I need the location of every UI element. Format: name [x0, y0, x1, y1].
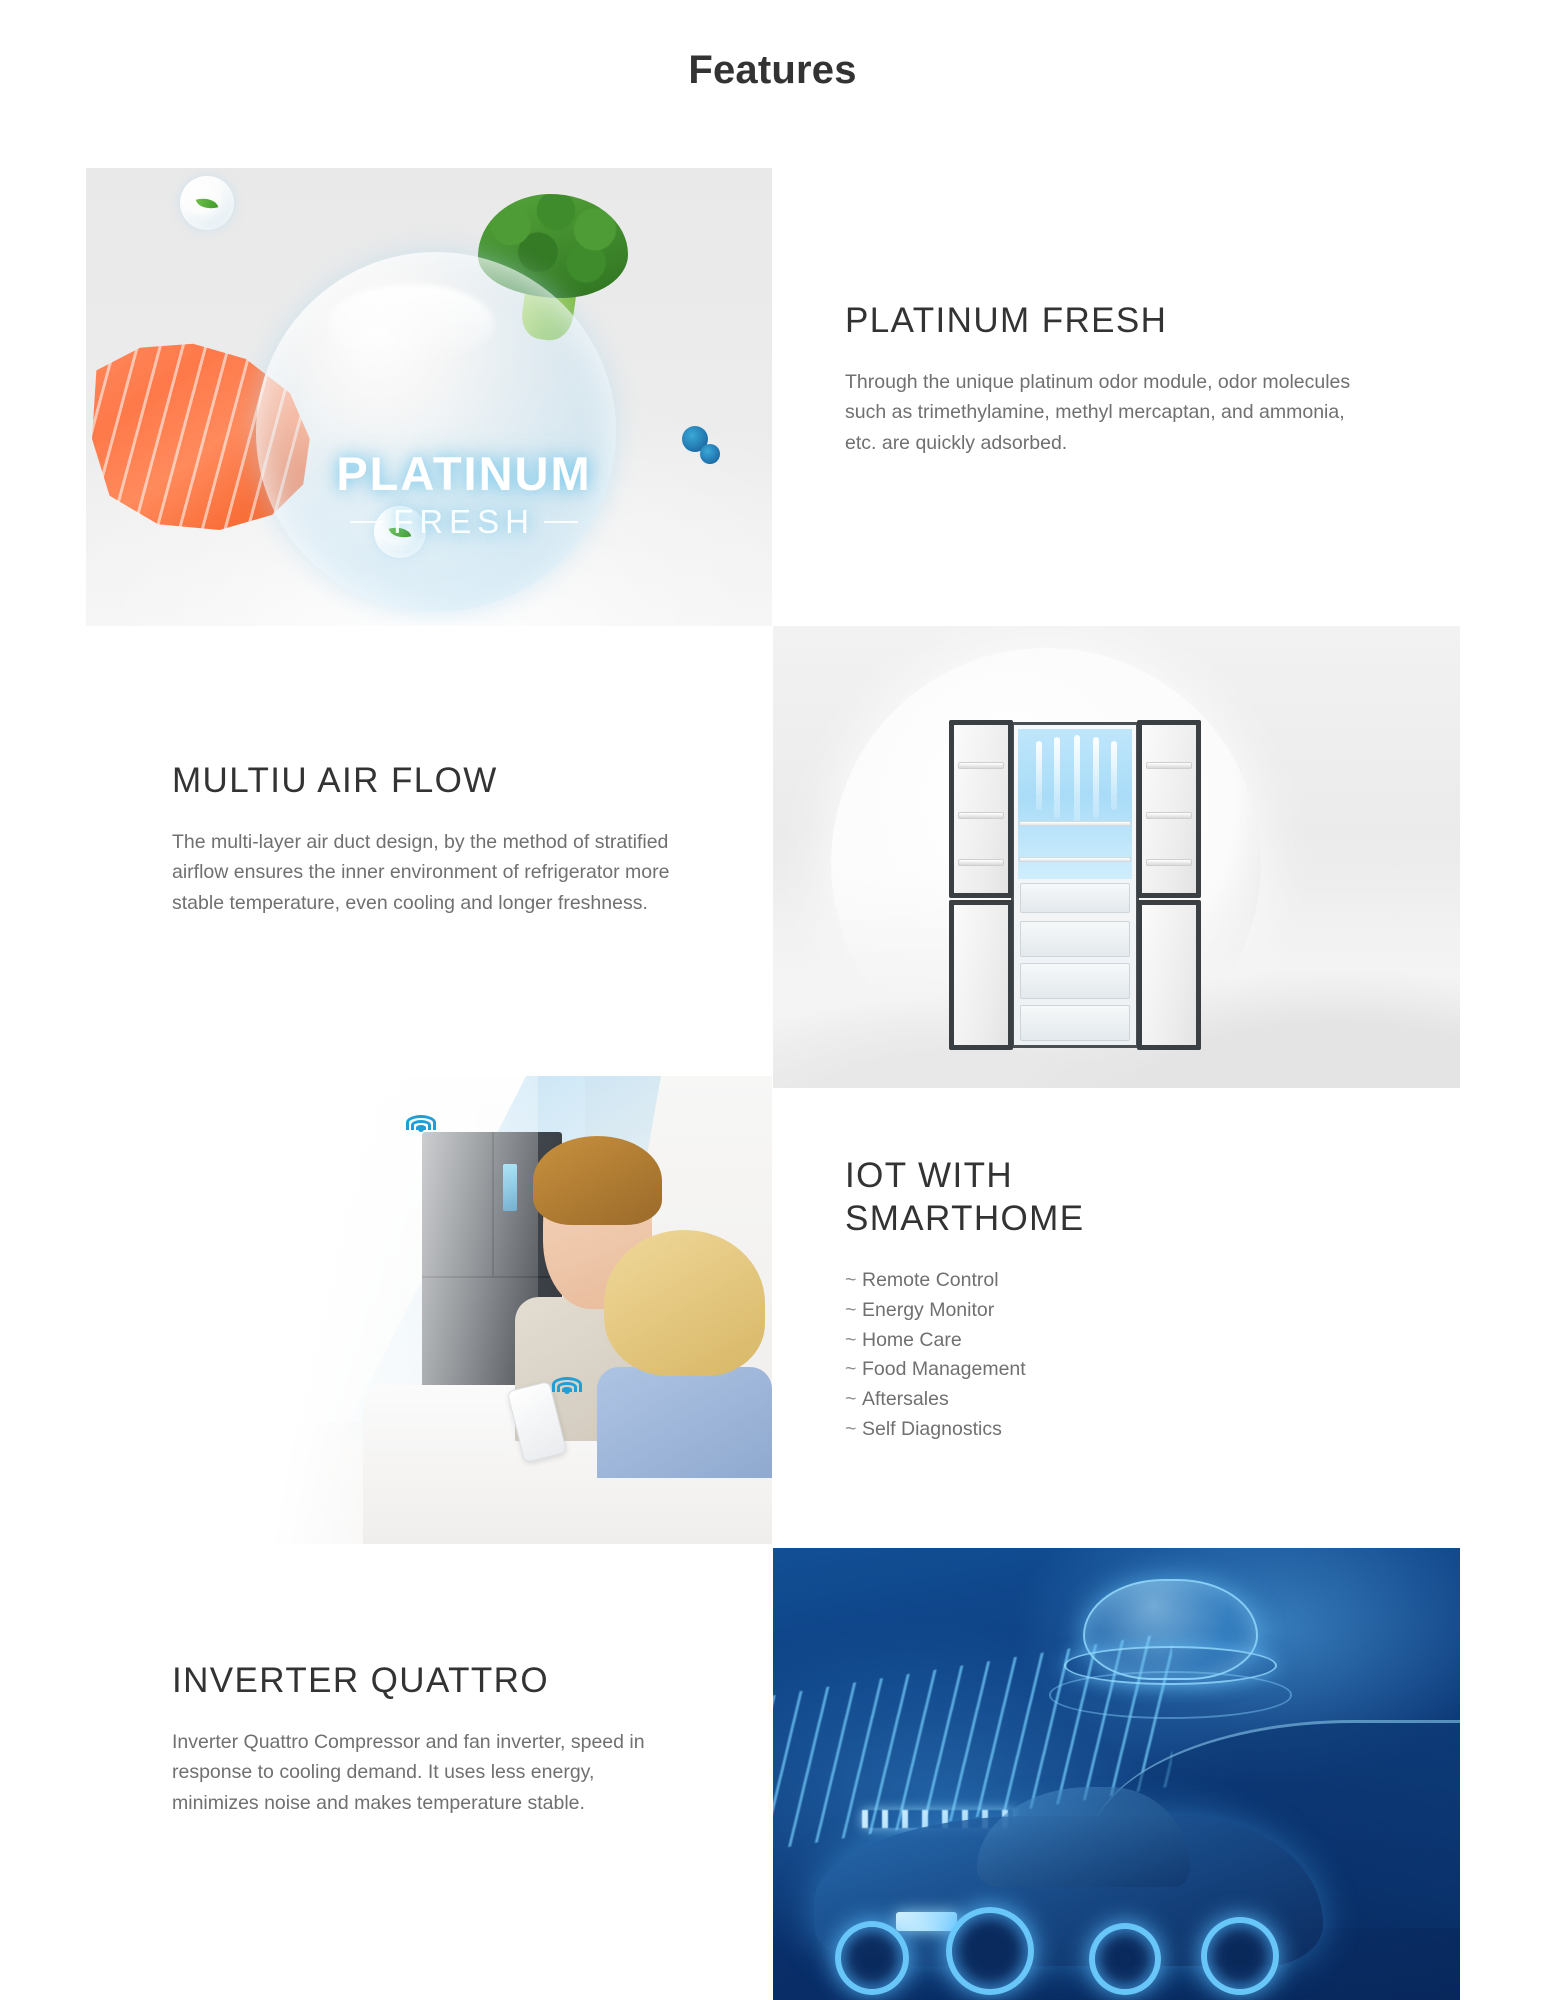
- glass-shelf: [1019, 821, 1131, 826]
- wifi-dot: [564, 1388, 570, 1394]
- list-item-label: Food Management: [862, 1358, 1026, 1380]
- airflow-stream: [1074, 735, 1080, 822]
- open-refrigerator-airflow-image: [773, 626, 1460, 1088]
- car-wheel: [835, 1921, 909, 1995]
- wordmark-line-2: FRESH: [314, 503, 614, 541]
- door-bottom-right: [1137, 900, 1201, 1050]
- crisper-drawer: [1020, 883, 1130, 913]
- door-top-right: [1137, 720, 1201, 898]
- platinum-fresh-image: PLATINUM FRESH Antibacterial rate >99.99…: [86, 168, 772, 626]
- multiu-air-flow-text: MULTIU AIR FLOW The multi-layer air duct…: [172, 760, 712, 919]
- feature-heading-inverter-quattro: INVERTER QUATTRO: [172, 1660, 712, 1703]
- airflow-stream: [1054, 737, 1060, 818]
- leaf-icon: [196, 194, 219, 212]
- leaf-bubble-top: [180, 176, 234, 230]
- door-top-left: [949, 720, 1013, 898]
- freezer-drawer: [1020, 921, 1130, 957]
- list-bullet: ~: [845, 1385, 862, 1415]
- list-item-label: Energy Monitor: [862, 1299, 994, 1321]
- feature-body-inverter-quattro: Inverter Quattro Compressor and fan inve…: [172, 1727, 672, 1819]
- large-bubble: [256, 252, 616, 612]
- door-bin: [1146, 812, 1191, 819]
- couple-with-smartphone-image: [188, 1076, 772, 1544]
- refrigerator-interior: [1011, 722, 1139, 1048]
- feature-heading-line-1: IOT WITH: [845, 1155, 1385, 1198]
- freezer-drawer: [1020, 963, 1130, 999]
- compressor-ripple: [1049, 1671, 1292, 1719]
- inverter-quattro-text: INVERTER QUATTRO Inverter Quattro Compre…: [172, 1660, 712, 1819]
- feature-body-platinum-fresh: Through the unique platinum odor module,…: [845, 367, 1365, 459]
- wordmark-line-1: PLATINUM: [314, 450, 614, 497]
- airflow-stream: [1093, 737, 1099, 818]
- door-bin: [1146, 762, 1191, 769]
- platinum-fresh-text: PLATINUM FRESH Through the unique platin…: [845, 300, 1385, 459]
- wifi-icon: [404, 1104, 438, 1132]
- compressor-icon: [1075, 1571, 1265, 1711]
- person-woman: [597, 1235, 772, 1478]
- list-bullet: ~: [845, 1326, 862, 1356]
- page-title: Features: [0, 48, 1545, 93]
- list-item: ~Aftersales: [845, 1385, 1385, 1415]
- feature-heading-multiu-air-flow: MULTIU AIR FLOW: [172, 760, 712, 803]
- feature-body-multiu-air-flow: The multi-layer air duct design, by the …: [172, 827, 677, 919]
- man-hair: [533, 1136, 663, 1226]
- wifi-icon: [550, 1366, 584, 1394]
- airflow-stream: [1036, 741, 1042, 810]
- blue-sports-car-compressor-image: [773, 1548, 1460, 2000]
- woman-hair: [604, 1230, 765, 1376]
- list-item: ~Food Management: [845, 1355, 1385, 1385]
- list-item: ~Remote Control: [845, 1266, 1385, 1296]
- list-item-label: Self Diagnostics: [862, 1418, 1002, 1440]
- woman-torso: [597, 1367, 772, 1479]
- door-bin: [958, 812, 1003, 819]
- platinum-fresh-wordmark: PLATINUM FRESH: [314, 450, 614, 541]
- car-wheel: [946, 1907, 1034, 1995]
- list-item-label: Home Care: [862, 1329, 962, 1351]
- door-bin: [958, 762, 1003, 769]
- freezer-drawer: [1020, 1005, 1130, 1041]
- list-item: ~Home Care: [845, 1326, 1385, 1356]
- car-cabin: [977, 1787, 1191, 1887]
- list-item-label: Remote Control: [862, 1269, 999, 1291]
- door-bin: [958, 859, 1003, 866]
- car-wheel: [1201, 1917, 1279, 1995]
- iot-with-smarthome-text: IOT WITH SMARTHOME ~Remote Control ~Ener…: [845, 1155, 1385, 1444]
- features-page: Features PLATINUM FRESH Antibacterial ra…: [0, 0, 1545, 2000]
- feature-heading-line-2: SMARTHOME: [845, 1198, 1385, 1241]
- door-bin: [1146, 859, 1191, 866]
- list-item: ~Energy Monitor: [845, 1296, 1385, 1326]
- list-bullet: ~: [845, 1266, 862, 1296]
- door-bottom-left: [949, 900, 1013, 1050]
- sports-car: [814, 1783, 1322, 1991]
- bacteria-icon: [700, 444, 720, 464]
- wifi-dot: [418, 1126, 424, 1132]
- iot-feature-list: ~Remote Control ~Energy Monitor ~Home Ca…: [845, 1266, 1385, 1444]
- car-wheel: [1089, 1923, 1161, 1995]
- list-item-label: Aftersales: [862, 1388, 949, 1410]
- airflow-stream: [1111, 741, 1117, 810]
- feature-heading-iot-with-smarthome: IOT WITH SMARTHOME: [845, 1155, 1385, 1240]
- feature-heading-platinum-fresh: PLATINUM FRESH: [845, 300, 1385, 343]
- car-headlamp: [896, 1912, 957, 1931]
- list-bullet: ~: [845, 1355, 862, 1385]
- glass-shelf: [1019, 857, 1131, 862]
- list-bullet: ~: [845, 1296, 862, 1326]
- list-bullet: ~: [845, 1415, 862, 1445]
- refrigerator-illustration: [949, 720, 1201, 1050]
- list-item: ~Self Diagnostics: [845, 1415, 1385, 1445]
